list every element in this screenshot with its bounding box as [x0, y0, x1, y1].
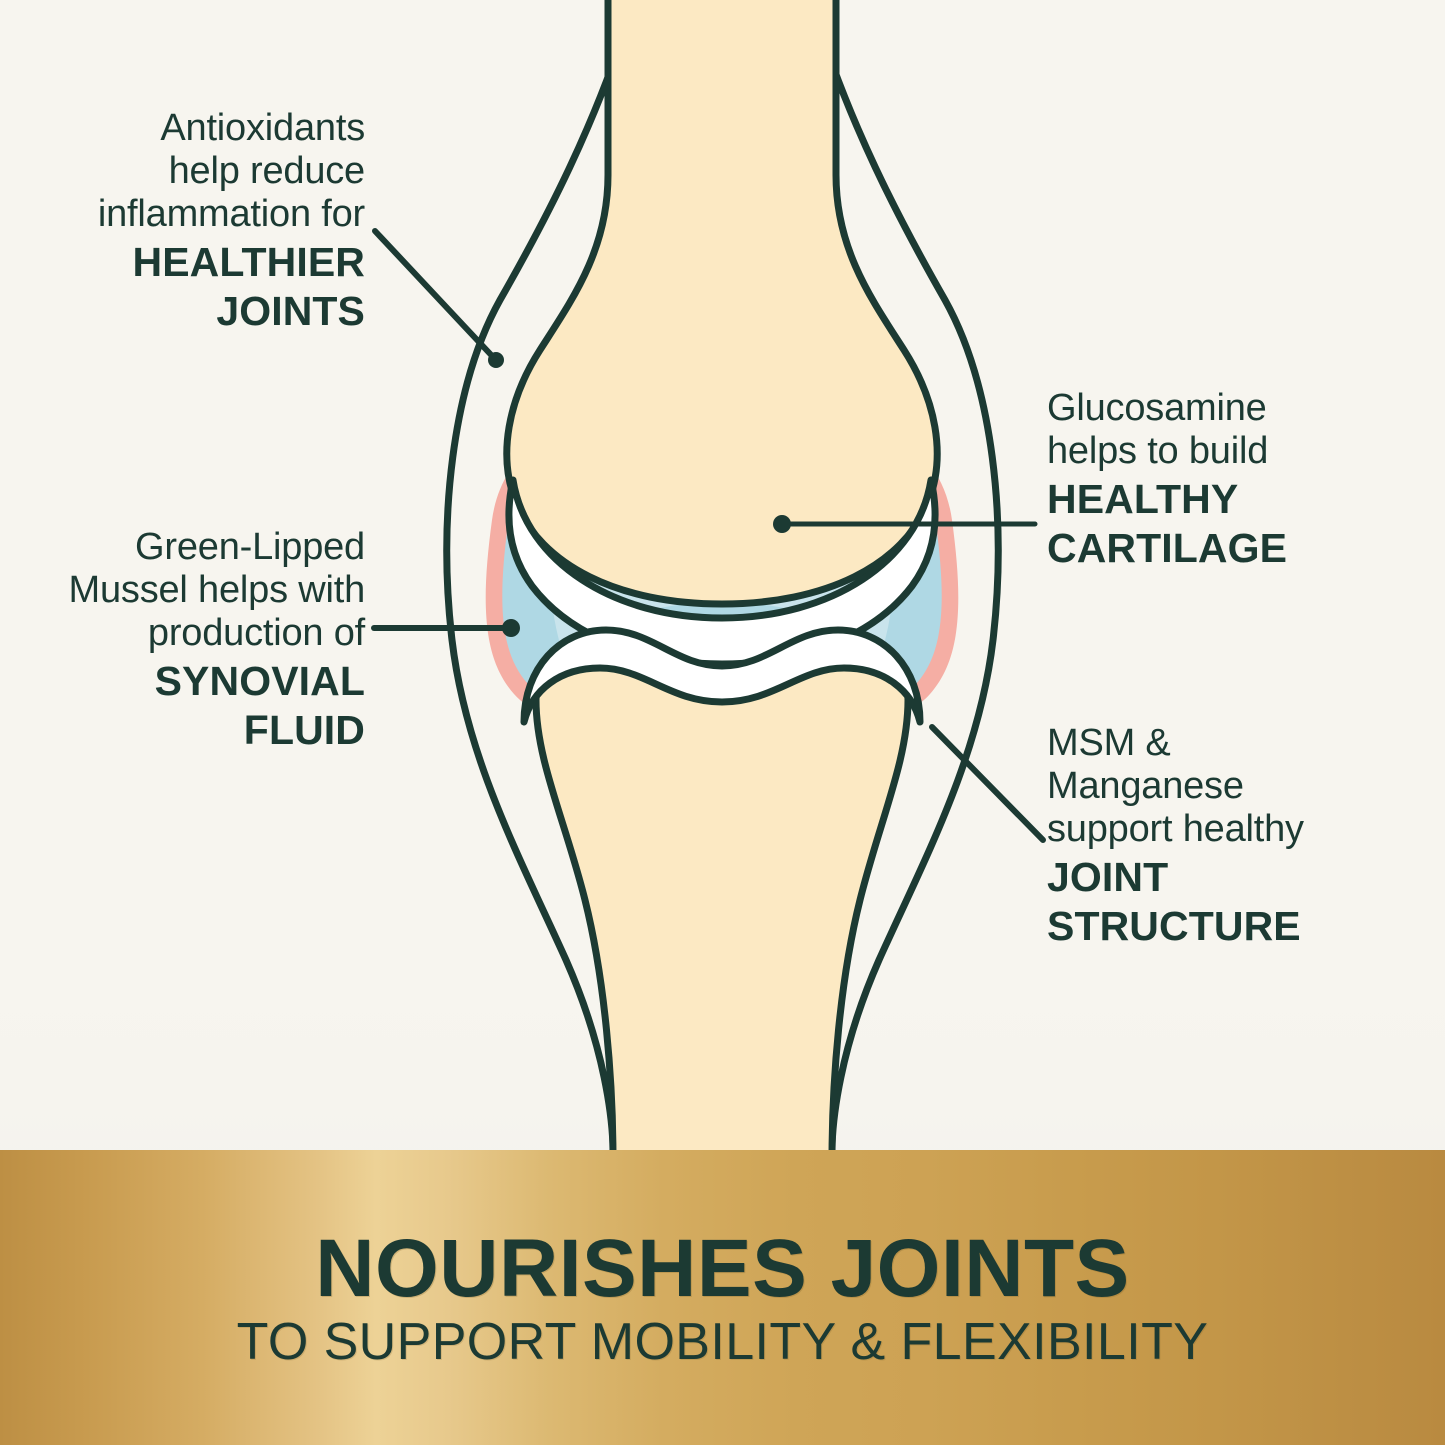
callout-glucosamine-line-1: Glucosamine: [1047, 387, 1445, 430]
callout-antioxidants-line-2: help reduce: [10, 150, 365, 193]
upper-bone: [507, 0, 937, 604]
callout-mussel-emphasis-2: FLUID: [10, 707, 365, 753]
callout-antioxidants-line-3: inflammation for: [10, 193, 365, 236]
callout-mussel-line-1: Green-Lipped: [10, 526, 365, 569]
gold-banner: NOURISHES JOINTS TO SUPPORT MOBILITY & F…: [0, 1150, 1445, 1445]
leader-joint-structure: [932, 727, 1043, 840]
callout-msm-line-1: MSM &: [1047, 722, 1445, 765]
callout-msm-emphasis-2: STRUCTURE: [1047, 903, 1445, 949]
banner-headline: NOURISHES JOINTS: [315, 1228, 1129, 1310]
callout-glucosamine-emphasis-2: CARTILAGE: [1047, 525, 1445, 571]
callout-antioxidants-emphasis-2: JOINTS: [10, 288, 365, 334]
callout-antioxidants: Antioxidants help reduce inflammation fo…: [10, 107, 365, 334]
lower-bone: [536, 638, 908, 1160]
callout-green-lipped-mussel: Green-Lipped Mussel helps with productio…: [10, 526, 365, 753]
callout-glucosamine: Glucosamine helps to build HEALTHY CARTI…: [1047, 387, 1445, 572]
callout-antioxidants-emphasis-1: HEALTHIER: [10, 239, 365, 285]
callout-mussel-emphasis-1: SYNOVIAL: [10, 658, 365, 704]
callout-msm-manganese: MSM & Manganese support healthy JOINT ST…: [1047, 722, 1445, 949]
callout-msm-line-2: Manganese: [1047, 765, 1445, 808]
banner-subhead: TO SUPPORT MOBILITY & FLEXIBILITY: [237, 1316, 1209, 1368]
callout-antioxidants-line-1: Antioxidants: [10, 107, 365, 150]
callout-glucosamine-line-2: helps to build: [1047, 430, 1445, 473]
callout-glucosamine-emphasis-1: HEALTHY: [1047, 476, 1445, 522]
callout-mussel-line-2: Mussel helps with: [10, 569, 365, 612]
callout-msm-emphasis-1: JOINT: [1047, 854, 1445, 900]
callout-msm-line-3: support healthy: [1047, 808, 1445, 851]
joint-health-infographic: Antioxidants help reduce inflammation fo…: [0, 0, 1445, 1445]
leader-antioxidants: [375, 231, 504, 368]
callout-mussel-line-3: production of: [10, 612, 365, 655]
